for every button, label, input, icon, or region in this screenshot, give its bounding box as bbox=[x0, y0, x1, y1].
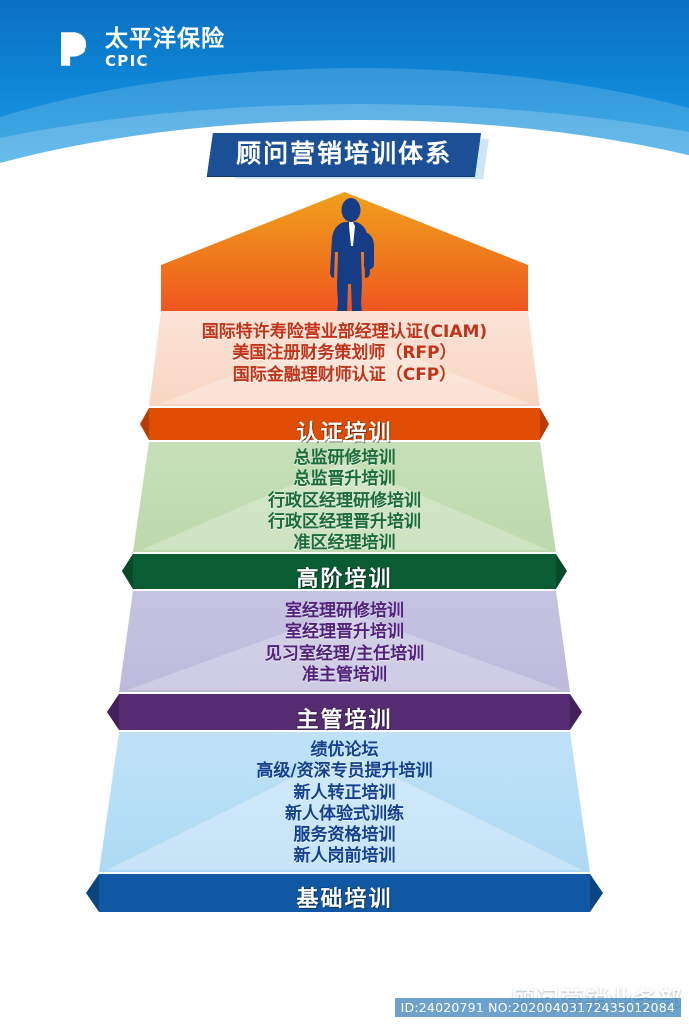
tier-label-advanced: 高阶培训 bbox=[0, 561, 689, 593]
nipic-watermark: 昵图网 www.nipic.com bbox=[20, 986, 235, 1005]
brand-logo: 太平洋保险 CPIC bbox=[58, 28, 225, 69]
image-id-watermark: ID:24020791 NO:20200403172435012084 bbox=[395, 998, 681, 1017]
tier-label-supervisor: 主管培训 bbox=[0, 702, 689, 734]
brand-name-cn: 太平洋保险 bbox=[105, 28, 225, 51]
poster-canvas: 太平洋保险 CPIC 顾问营销培训体系 bbox=[0, 0, 689, 1024]
nipic-logo-text: 昵图网 bbox=[20, 986, 80, 1005]
brand-name-en: CPIC bbox=[105, 54, 225, 69]
nipic-url: www.nipic.com bbox=[87, 988, 235, 1005]
page-title: 顾问营销培训体系 bbox=[237, 140, 453, 168]
tier-label-basic: 基础培训 bbox=[0, 881, 689, 913]
page-title-banner: 顾问营销培训体系 bbox=[207, 133, 481, 176]
tier-label-certification: 认证培训 bbox=[0, 415, 689, 447]
page-title-wrap: 顾问营销培训体系 bbox=[0, 133, 689, 176]
cpic-p-logo-icon bbox=[58, 30, 96, 68]
